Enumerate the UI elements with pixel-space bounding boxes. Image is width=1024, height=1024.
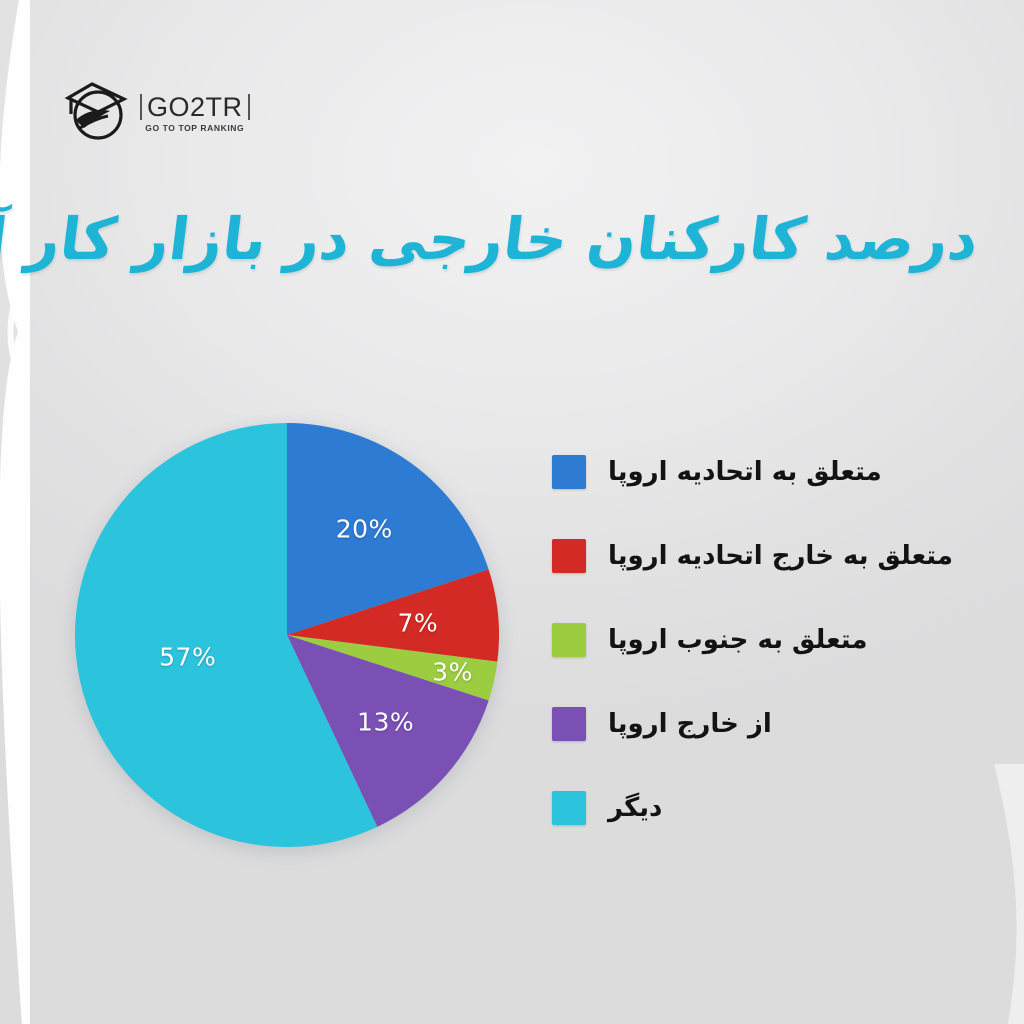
legend-item-other[interactable]: دیگر [552, 766, 928, 850]
legend-label-outside-europe: از خارج اروپا [608, 708, 772, 741]
legend-label-eu: متعلق به اتحادیه اروپا [608, 456, 882, 489]
pie-slice-label: 13% [357, 707, 414, 736]
legend-label-south-europe: متعلق به جنوب اروپا [608, 624, 867, 657]
pie-slice-label: 7% [398, 608, 439, 637]
pie-slice-label: 20% [336, 514, 393, 543]
legend-label-other: دیگر [608, 792, 662, 825]
legend-label-non-eu: متعلق به خارج اتحادیه اروپا [608, 540, 953, 573]
page-title: درصد کارکنان خارجی در بازار کار آلمان [46, 206, 982, 272]
pie-chart: 20%7%3%13%57% [75, 423, 499, 847]
pie-slice-label: 3% [432, 657, 473, 686]
brand-logo: GO2TR GO TO TOP RANKING [58, 78, 250, 144]
brand-wordmark: GO2TR [147, 94, 243, 121]
brand-tagline: GO TO TOP RANKING [145, 124, 244, 133]
legend-swatch-south-europe [552, 623, 586, 657]
wordmark-left-bar [140, 94, 142, 120]
graduation-cap-logo-icon [58, 78, 130, 144]
legend-swatch-other [552, 791, 586, 825]
chart-legend: متعلق به اتحادیه اروپا متعلق به خارج اتح… [552, 430, 928, 850]
infographic-poster: GO2TR GO TO TOP RANKING درصد کارکنان خار… [0, 0, 1024, 1024]
wordmark-right-bar [248, 94, 250, 120]
legend-swatch-outside-europe [552, 707, 586, 741]
right-edge-swoosh-decoration [994, 764, 1024, 1024]
legend-item-eu[interactable]: متعلق به اتحادیه اروپا [552, 430, 928, 514]
legend-item-non-eu[interactable]: متعلق به خارج اتحادیه اروپا [552, 514, 928, 598]
legend-item-south-europe[interactable]: متعلق به جنوب اروپا [552, 598, 928, 682]
legend-swatch-non-eu [552, 539, 586, 573]
legend-swatch-eu [552, 455, 586, 489]
brand-wordmark-row: GO2TR [140, 94, 250, 121]
left-edge-swoosh-decoration [0, 0, 30, 1024]
pie-slice-label: 57% [159, 643, 216, 672]
legend-item-outside-europe[interactable]: از خارج اروپا [552, 682, 928, 766]
